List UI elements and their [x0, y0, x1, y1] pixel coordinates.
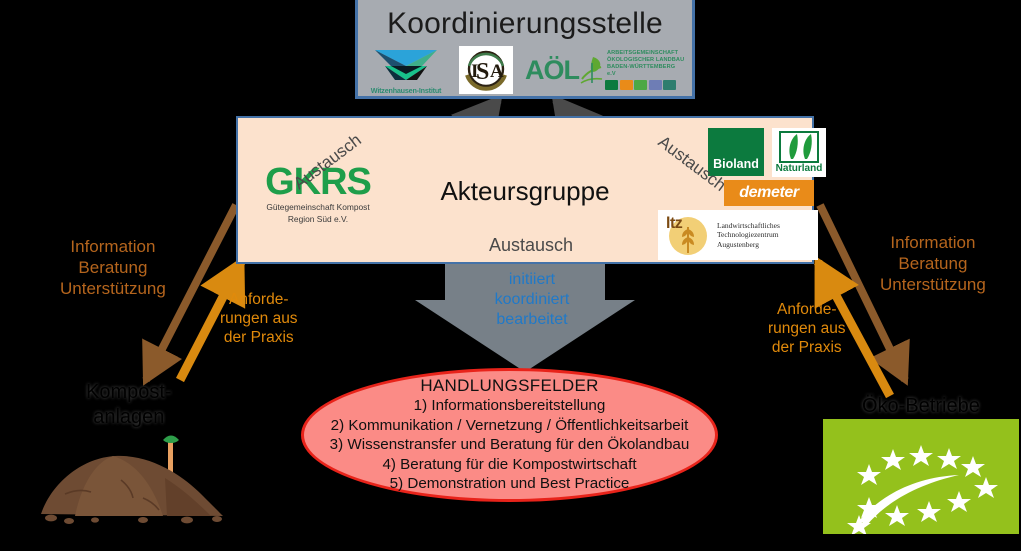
- label-information-right-line1: Information: [880, 232, 986, 253]
- compost-pile-illustration: [35, 432, 265, 522]
- bioland-label: Bioland: [713, 157, 759, 171]
- aoel-logo: AÖL ARBEITSGEMEINSCHAFT ÖKOLOGISCHER LAN…: [525, 45, 685, 95]
- koordinierungsstelle-box: Koordinierungsstelle Witzenhausen-Instit…: [355, 0, 695, 99]
- chevron-line-initiiert: initiiert: [487, 270, 577, 290]
- ltz-text-line2: Technologiezentrum: [717, 230, 780, 240]
- label-anforderungen-right-line1: Anforde-: [768, 300, 846, 319]
- ltz-mark: ltz: [666, 215, 682, 233]
- aoel-member-badges: [605, 80, 685, 90]
- aoel-text-line2: ÖKOLOGISCHER LANDBAU: [607, 57, 685, 64]
- witzenhausen-institut-label: Witzenhausen-Institut: [365, 86, 447, 95]
- label-anforderungen-left-line3: der Praxis: [220, 328, 298, 347]
- demeter-label: demeter: [739, 184, 798, 202]
- arrow-bottom-compost-oeko: [190, 521, 815, 539]
- handlungsfelder-ellipse: HANDLUNGSFELDER 1) Informationsbereitste…: [301, 368, 718, 502]
- label-anforderungen-right: Anforde- rungen aus der Praxis: [768, 300, 846, 357]
- isa-logo: I S A: [459, 46, 513, 94]
- label-anforderungen-left: Anforde- rungen aus der Praxis: [220, 290, 298, 347]
- akteursgruppe-title: Akteursgruppe: [440, 176, 609, 207]
- label-anforderungen-left-line1: Anforde-: [220, 290, 298, 309]
- label-information-left: Information Beratung Unterstützung: [60, 236, 166, 299]
- arrow-handlungsfelder-to-oeko: [762, 423, 822, 441]
- label-information-right-line2: Beratung: [880, 253, 986, 274]
- koordinierungsstelle-title: Koordinierungsstelle: [358, 5, 692, 43]
- naturland-logo: Naturland: [772, 128, 826, 177]
- handlungsfelder-title: HANDLUNGSFELDER: [420, 376, 598, 396]
- eu-organic-leaf-logo: [823, 419, 1019, 534]
- svg-text:A: A: [490, 61, 504, 82]
- label-austausch-middle: Austausch: [489, 235, 573, 256]
- label-information-right-line3: Unterstützung: [880, 274, 986, 295]
- aoel-text-line1: ARBEITSGEMEINSCHAFT: [607, 50, 685, 57]
- gkrs-subtitle-line2: Region Süd e.V.: [248, 214, 388, 224]
- aoel-text-line3: BADEN-WÜRTTEMBERG e.V: [607, 64, 685, 78]
- svg-text:S: S: [476, 59, 489, 85]
- diagram-canvas: Koordinierungsstelle Witzenhausen-Instit…: [0, 0, 1021, 551]
- handlungsfeld-item-2: 2) Kommunikation / Vernetzung / Öffentli…: [331, 416, 689, 436]
- label-anforderungen-right-line2: rungen aus: [768, 319, 846, 338]
- chevron-process-text: initiiert koordiniert bearbeitet: [487, 270, 577, 330]
- koordinierungsstelle-logos: Witzenhausen-Institut I S A AÖL: [358, 45, 692, 95]
- ltz-text-line3: Augustenberg: [717, 240, 780, 250]
- aoel-mark: AÖL: [525, 57, 579, 84]
- handlungsfeld-item-1: 1) Informationsbereitstellung: [414, 396, 606, 416]
- witzenhausen-institut-logo: Witzenhausen-Institut: [365, 46, 447, 94]
- aoel-leaf-icon: [579, 53, 605, 87]
- naturland-leaf-icon: [779, 131, 819, 163]
- handlungsfeld-item-4: 4) Beratung für die Kompostwirtschaft: [382, 455, 636, 475]
- ltz-augustenberg-logo: ltz Landwirtschaftliches Technologiezent…: [658, 210, 818, 260]
- label-anforderungen-right-line3: der Praxis: [768, 338, 846, 357]
- chevron-line-koordiniert: koordiniert: [487, 290, 577, 310]
- demeter-logo: demeter: [724, 180, 814, 206]
- label-anforderungen-left-line2: rungen aus: [220, 309, 298, 328]
- label-information-left-line2: Beratung: [60, 257, 166, 278]
- label-kompostanlagen-line1: Kompost-: [86, 380, 172, 405]
- label-kompostanlagen: Kompost- anlagen: [86, 380, 172, 430]
- label-kompostanlagen-line2: anlagen: [86, 405, 172, 430]
- label-information-left-line1: Information: [60, 236, 166, 257]
- label-information-left-line3: Unterstützung: [60, 278, 166, 299]
- gkrs-subtitle-line1: Gütegemeinschaft Kompost: [248, 202, 388, 212]
- naturland-label: Naturland: [776, 163, 823, 174]
- label-information-right: Information Beratung Unterstützung: [880, 232, 986, 295]
- label-oeko-betriebe: Öko-Betriebe: [862, 396, 980, 417]
- handlungsfeld-item-3: 3) Wissenstransfer und Beratung für den …: [330, 435, 690, 455]
- chevron-line-bearbeitet: bearbeitet: [487, 310, 577, 330]
- ltz-text-line1: Landwirtschaftliches: [717, 221, 780, 231]
- bioland-logo: Bioland: [708, 128, 764, 176]
- handlungsfeld-item-5: 5) Demonstration und Best Practice: [390, 474, 630, 494]
